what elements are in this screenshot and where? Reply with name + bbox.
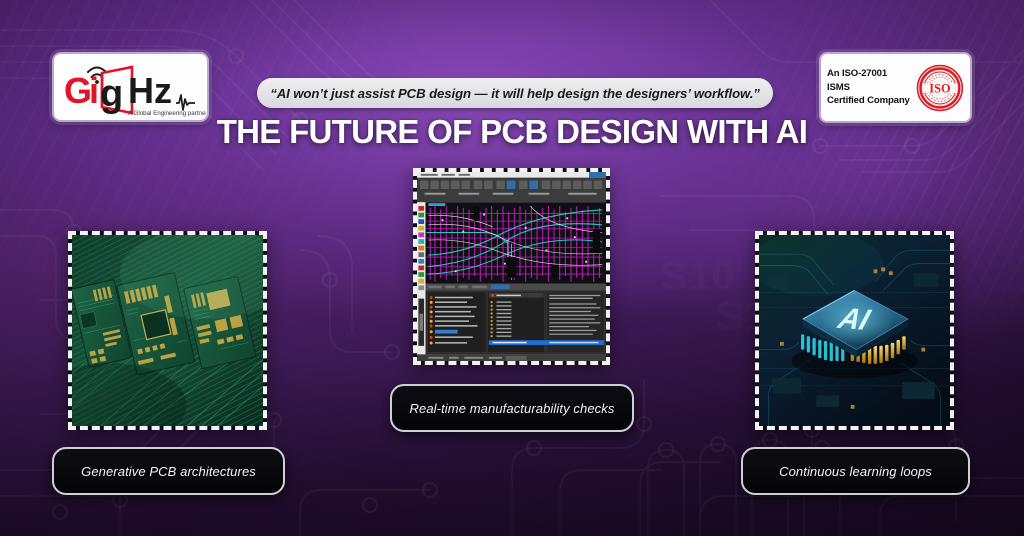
logo-letter-i: i	[89, 70, 99, 111]
logo-letter-g2: g	[100, 73, 123, 115]
eda-pcb-layout-software-screenshot	[417, 172, 606, 361]
waveform-icon	[176, 95, 195, 110]
page-title: THE FUTURE OF PCB DESIGN WITH AI	[0, 113, 1024, 151]
caption-text: Continuous learning loops	[779, 464, 932, 479]
iso-seal-text: ISO	[929, 81, 950, 95]
caption-text: Real-time manufacturability checks	[410, 401, 615, 416]
logo-letter-hz: Hz	[128, 70, 172, 111]
poster-canvas: S10 S11 R4 C7 G i g Hz	[0, 0, 1024, 536]
iso-line-2: Certified Company	[827, 94, 912, 108]
iso-line-1: An ISO-27001 ISMS	[827, 67, 912, 95]
caption-generative-pcb-architectures[interactable]: Generative PCB architectures	[52, 447, 285, 495]
panel-continuous-learning-loops[interactable]: AI	[755, 231, 954, 430]
gighz-logo-mark: G i g Hz A Global Engineering partner	[56, 55, 206, 119]
iso-text-block: An ISO-27001 ISMS Certified Company	[827, 67, 912, 109]
panel-generative-pcb-architectures[interactable]	[68, 231, 267, 430]
logo-letter-g1: G	[64, 70, 92, 111]
caption-continuous-learning-loops[interactable]: Continuous learning loops	[741, 447, 970, 495]
panel-real-time-manufacturability-checks[interactable]	[413, 168, 610, 365]
svg-text:S10: S10	[660, 252, 735, 299]
svg-text:C7: C7	[300, 446, 333, 476]
quote-text: “AI won’t just assist PCB design — it wi…	[270, 86, 760, 101]
iso-seal-icon: ISO	[916, 64, 964, 112]
caption-text: Generative PCB architectures	[81, 464, 256, 479]
gighz-logo[interactable]: G i g Hz A Global Engineering partner	[52, 52, 209, 122]
ai-chip-on-circuit-board-photo: AI	[759, 235, 950, 426]
quote-banner: “AI won’t just assist PCB design — it wi…	[257, 78, 773, 108]
caption-real-time-manufacturability-checks[interactable]: Real-time manufacturability checks	[390, 384, 634, 432]
green-pcb-boards-photo	[72, 235, 263, 426]
